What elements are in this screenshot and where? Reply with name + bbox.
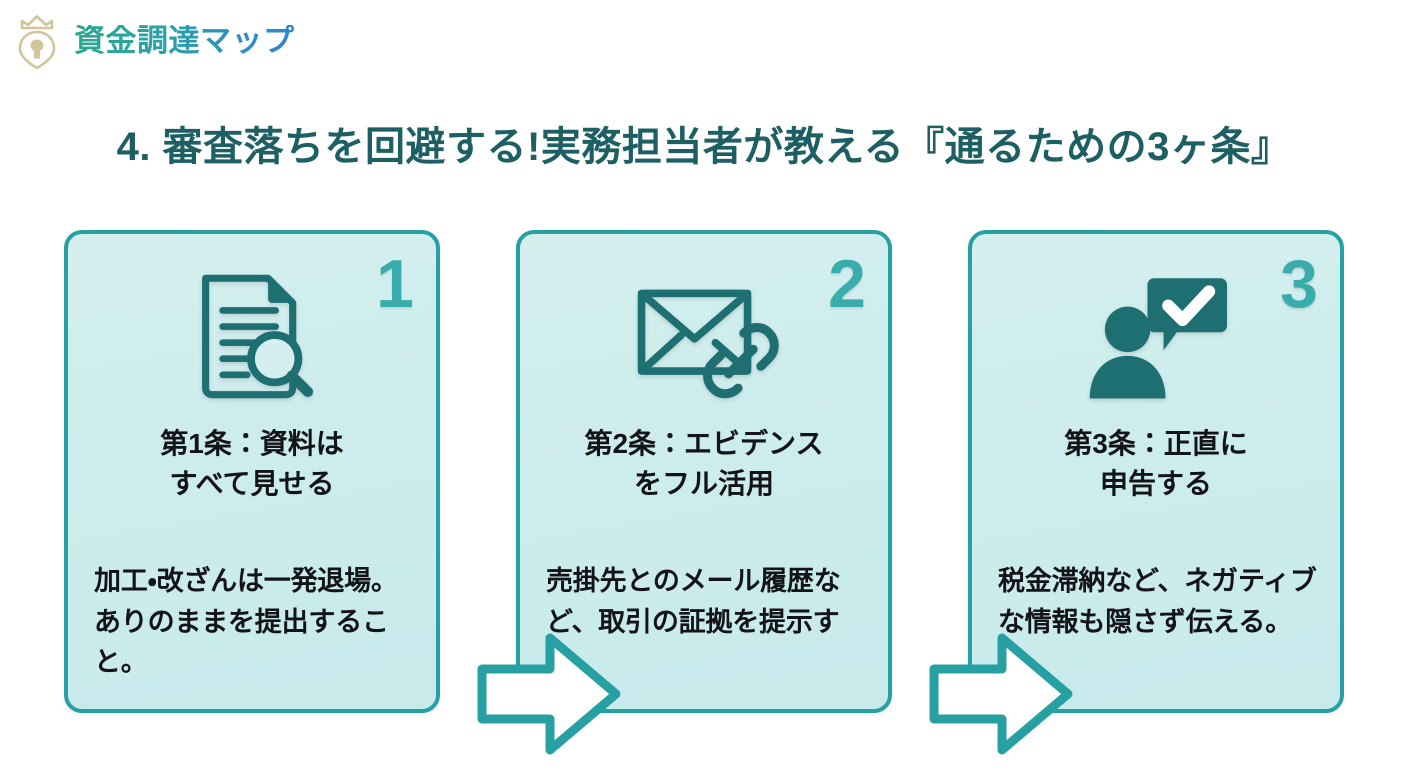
step-heading: 第1条：資料は すべて見せる (82, 424, 422, 504)
step-heading-line1: 第3条：正直に (986, 424, 1326, 464)
step-heading-line1: 第2条：エビデンス (534, 424, 874, 464)
crown-map-pin-icon (8, 10, 66, 72)
arrow-right-icon (928, 626, 1074, 762)
document-magnifier-icon (68, 256, 436, 416)
step-heading-line2: 申告する (986, 464, 1326, 504)
page-title: 4. 審査落ちを回避する!実務担当者が教える『通るための3ヶ条』 (0, 123, 1408, 171)
steps-container: 1 第1条：資料は (64, 230, 1344, 715)
step-card-1: 1 第1条：資料は (64, 230, 440, 713)
step-heading: 第2条：エビデンス をフル活用 (534, 424, 874, 504)
step-heading-line2: すべて見せる (82, 464, 422, 504)
arrow-right-icon (476, 626, 622, 762)
brand-header: 資金調達マップ (8, 10, 295, 72)
person-check-bubble-icon (972, 256, 1340, 416)
envelope-link-icon (520, 256, 888, 416)
brand-name: 資金調達マップ (74, 25, 295, 58)
step-body-text: 加工・改ざんは一発退場。ありのままを提出すること。 (94, 561, 414, 683)
step-heading-line2: をフル活用 (534, 464, 874, 504)
step-heading: 第3条：正直に 申告する (986, 424, 1326, 504)
step-heading-line1: 第1条：資料は (82, 424, 422, 464)
